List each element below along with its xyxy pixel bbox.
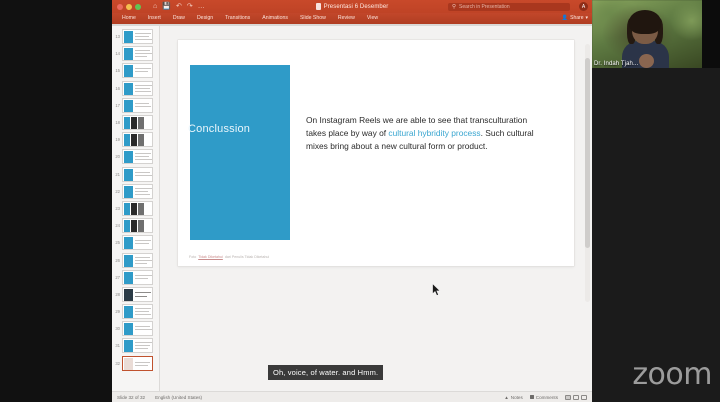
thumbnail-preview[interactable] xyxy=(122,287,153,302)
scrollbar-thumb[interactable] xyxy=(585,58,590,248)
tab-animations[interactable]: Animations xyxy=(256,13,294,24)
meeting-stage-left-letterbox xyxy=(0,0,112,402)
thumbnail-number: 19 xyxy=(114,137,120,142)
slideshow-view-icon[interactable] xyxy=(581,395,587,400)
thumbnail-number: 30 xyxy=(114,326,120,331)
thumbnail-item-14[interactable]: 14 xyxy=(112,45,159,62)
thumbnail-number: 16 xyxy=(114,86,120,91)
thumbnail-item-13[interactable]: 13 xyxy=(112,28,159,45)
thumbnail-preview[interactable] xyxy=(122,321,153,336)
mouse-cursor xyxy=(432,283,442,297)
normal-view-icon[interactable] xyxy=(565,395,571,400)
thumbnail-preview[interactable] xyxy=(122,149,153,164)
thumbnail-preview[interactable] xyxy=(122,270,153,285)
thumbnail-number: 22 xyxy=(114,189,120,194)
thumbnail-number: 28 xyxy=(114,292,120,297)
more-icon[interactable]: … xyxy=(198,3,205,10)
tab-draw[interactable]: Draw xyxy=(167,13,191,24)
slide-pane-scrollbar[interactable] xyxy=(585,44,590,302)
thumbnail-preview[interactable] xyxy=(122,63,153,78)
maximize-window-icon[interactable] xyxy=(135,4,141,10)
thumbnail-item-27[interactable]: 27 xyxy=(112,269,159,286)
tab-slide-show[interactable]: Slide Show xyxy=(294,13,332,24)
thumbnail-preview[interactable] xyxy=(122,201,153,216)
credit-link[interactable]: Tidak Diketahui xyxy=(198,255,223,259)
slide-image-credit: Foto Tidak Diketahui dari Penulis Tidak … xyxy=(189,255,269,259)
notes-icon: ▲ xyxy=(504,395,509,400)
notes-button[interactable]: ▲ Notes xyxy=(504,395,523,400)
thumbnail-preview[interactable] xyxy=(122,81,153,96)
share-button-label: Share xyxy=(570,15,583,21)
slide-thumbnail-pane[interactable]: 13 14 15 16 17 xyxy=(112,26,160,402)
ribbon-tab-bar[interactable]: Home Insert Draw Design Transitions Anim… xyxy=(112,13,592,24)
slide-sorter-view-icon[interactable] xyxy=(573,395,579,400)
minimize-window-icon[interactable] xyxy=(126,4,132,10)
thumbnail-number: 32 xyxy=(114,361,120,366)
thumbnail-preview[interactable] xyxy=(122,29,153,44)
slide-counter: Slide 32 of 32 xyxy=(117,395,145,400)
comments-icon xyxy=(530,395,534,399)
thumbnail-preview[interactable] xyxy=(122,218,153,233)
presentation-file-icon xyxy=(316,3,321,10)
search-input[interactable]: ⚲ Search in Presentation xyxy=(448,3,570,12)
current-slide[interactable]: Conclussion On Instagram Reels we are ab… xyxy=(178,40,574,266)
thumbnail-preview[interactable] xyxy=(122,98,153,113)
tab-design[interactable]: Design xyxy=(191,13,219,24)
tab-review[interactable]: Review xyxy=(332,13,361,24)
thumbnail-preview[interactable] xyxy=(122,338,153,353)
zoom-meeting-screen: ⌂ 💾 ↶ ↷ … Presentasi 6 Desember ⚲ Search… xyxy=(0,0,720,402)
thumbnail-item-24[interactable]: 24 xyxy=(112,217,159,234)
thumbnail-number: 25 xyxy=(114,240,120,245)
thumbnail-preview-selected[interactable] xyxy=(122,356,153,371)
language-indicator[interactable]: English (United States) xyxy=(155,395,202,400)
redo-icon[interactable]: ↷ xyxy=(187,3,193,10)
window-traffic-lights[interactable] xyxy=(117,4,141,10)
tab-view[interactable]: View xyxy=(361,13,384,24)
powerpoint-body: 13 14 15 16 17 xyxy=(112,26,592,402)
participant-hand xyxy=(639,54,654,68)
search-placeholder: Search in Presentation xyxy=(459,4,510,10)
slide-body-text[interactable]: On Instagram Reels we are able to see th… xyxy=(306,114,544,152)
credit-suffix: dari Penulis Tidak Diketahui xyxy=(225,255,269,259)
avatar[interactable]: A xyxy=(579,2,588,11)
comments-label: Comments xyxy=(536,395,558,400)
thumbnail-number: 24 xyxy=(114,223,120,228)
thumbnail-item-18[interactable]: 18 xyxy=(112,114,159,131)
thumbnail-number: 17 xyxy=(114,103,120,108)
tab-transitions[interactable]: Transitions xyxy=(219,13,256,24)
video-right-letterbox xyxy=(702,0,720,68)
undo-icon[interactable]: ↶ xyxy=(176,3,182,10)
thumbnail-item-17[interactable]: 17 xyxy=(112,97,159,114)
thumbnail-item-25[interactable]: 25 xyxy=(112,234,159,251)
thumbnail-number: 27 xyxy=(114,275,120,280)
thumbnail-number: 21 xyxy=(114,172,120,177)
window-title: Presentasi 6 Desember xyxy=(324,4,389,10)
thumbnail-preview[interactable] xyxy=(122,115,153,130)
thumbnail-item-30[interactable]: 30 xyxy=(112,320,159,337)
slide-title-block[interactable] xyxy=(190,65,290,240)
zoom-watermark: zoom xyxy=(632,360,712,390)
shared-powerpoint-window: ⌂ 💾 ↶ ↷ … Presentasi 6 Desember ⚲ Search… xyxy=(112,0,592,402)
share-person-icon: 👤 xyxy=(562,15,568,21)
thumbnail-number: 31 xyxy=(114,343,120,348)
view-switcher[interactable] xyxy=(565,395,587,400)
thumbnail-number: 15 xyxy=(114,68,120,73)
powerpoint-title-bar: ⌂ 💾 ↶ ↷ … Presentasi 6 Desember ⚲ Search… xyxy=(112,0,592,13)
thumbnail-preview[interactable] xyxy=(122,46,153,61)
save-icon[interactable]: 💾 xyxy=(162,3,171,10)
thumbnail-number: 20 xyxy=(114,154,120,159)
slide-editing-pane[interactable]: Conclussion On Instagram Reels we are ab… xyxy=(160,26,592,402)
participant-name-label: Dr. Indah Tjah... xyxy=(594,61,638,67)
thumbnail-item-29[interactable]: 29 xyxy=(112,303,159,320)
status-bar-right: ▲ Notes Comments xyxy=(504,395,587,400)
thumbnail-item-23[interactable]: 23 xyxy=(112,200,159,217)
search-icon: ⚲ xyxy=(452,4,456,10)
thumbnail-number: 14 xyxy=(114,51,120,56)
live-caption: Oh, voice, of water. and Hmm. xyxy=(268,365,383,380)
thumbnail-number: 13 xyxy=(114,34,120,39)
thumbnail-preview[interactable] xyxy=(122,132,153,147)
thumbnail-item-19[interactable]: 19 xyxy=(112,131,159,148)
thumbnail-item-26[interactable]: 26 xyxy=(112,251,159,268)
quick-access-toolbar[interactable]: ⌂ 💾 ↶ ↷ … xyxy=(153,3,205,10)
thumbnail-item-21[interactable]: 21 xyxy=(112,166,159,183)
participant-figure xyxy=(622,14,670,68)
share-button[interactable]: 👤 Share ▾ xyxy=(562,15,588,21)
home-icon[interactable]: ⌂ xyxy=(153,3,157,10)
thumbnail-item-22[interactable]: 22 xyxy=(112,183,159,200)
tab-insert[interactable]: Insert xyxy=(142,13,167,24)
close-window-icon[interactable] xyxy=(117,4,123,10)
chevron-down-icon: ▾ xyxy=(585,15,588,21)
thumbnail-item-15[interactable]: 15 xyxy=(112,62,159,79)
participant-video-tile[interactable]: Dr. Indah Tjah... xyxy=(592,0,720,68)
thumbnail-item-31[interactable]: 31 xyxy=(112,337,159,354)
credit-prefix: Foto xyxy=(189,255,196,259)
thumbnail-number: 29 xyxy=(114,309,120,314)
notes-label: Notes xyxy=(511,395,523,400)
thumbnail-preview[interactable] xyxy=(122,253,153,268)
thumbnail-item-28[interactable]: 28 xyxy=(112,286,159,303)
thumbnail-preview[interactable] xyxy=(122,235,153,250)
thumbnail-number: 18 xyxy=(114,120,120,125)
thumbnail-item-20[interactable]: 20 xyxy=(112,148,159,165)
participant-hair-top xyxy=(629,10,661,34)
thumbnail-number: 23 xyxy=(114,206,120,211)
thumbnail-item-16[interactable]: 16 xyxy=(112,80,159,97)
thumbnail-preview[interactable] xyxy=(122,167,153,182)
comments-button[interactable]: Comments xyxy=(530,395,558,400)
tab-home[interactable]: Home xyxy=(116,13,142,24)
thumbnail-number: 26 xyxy=(114,258,120,263)
thumbnail-preview[interactable] xyxy=(122,304,153,319)
status-bar: Slide 32 of 32 English (United States) ▲… xyxy=(112,391,592,402)
meeting-stage-right-letterbox xyxy=(592,68,720,402)
thumbnail-item-32[interactable]: 32 xyxy=(112,355,159,372)
slide-body-highlight: cultural hybridity process xyxy=(388,128,480,138)
thumbnail-preview[interactable] xyxy=(122,184,153,199)
slide-title-text: Conclussion xyxy=(188,123,278,135)
